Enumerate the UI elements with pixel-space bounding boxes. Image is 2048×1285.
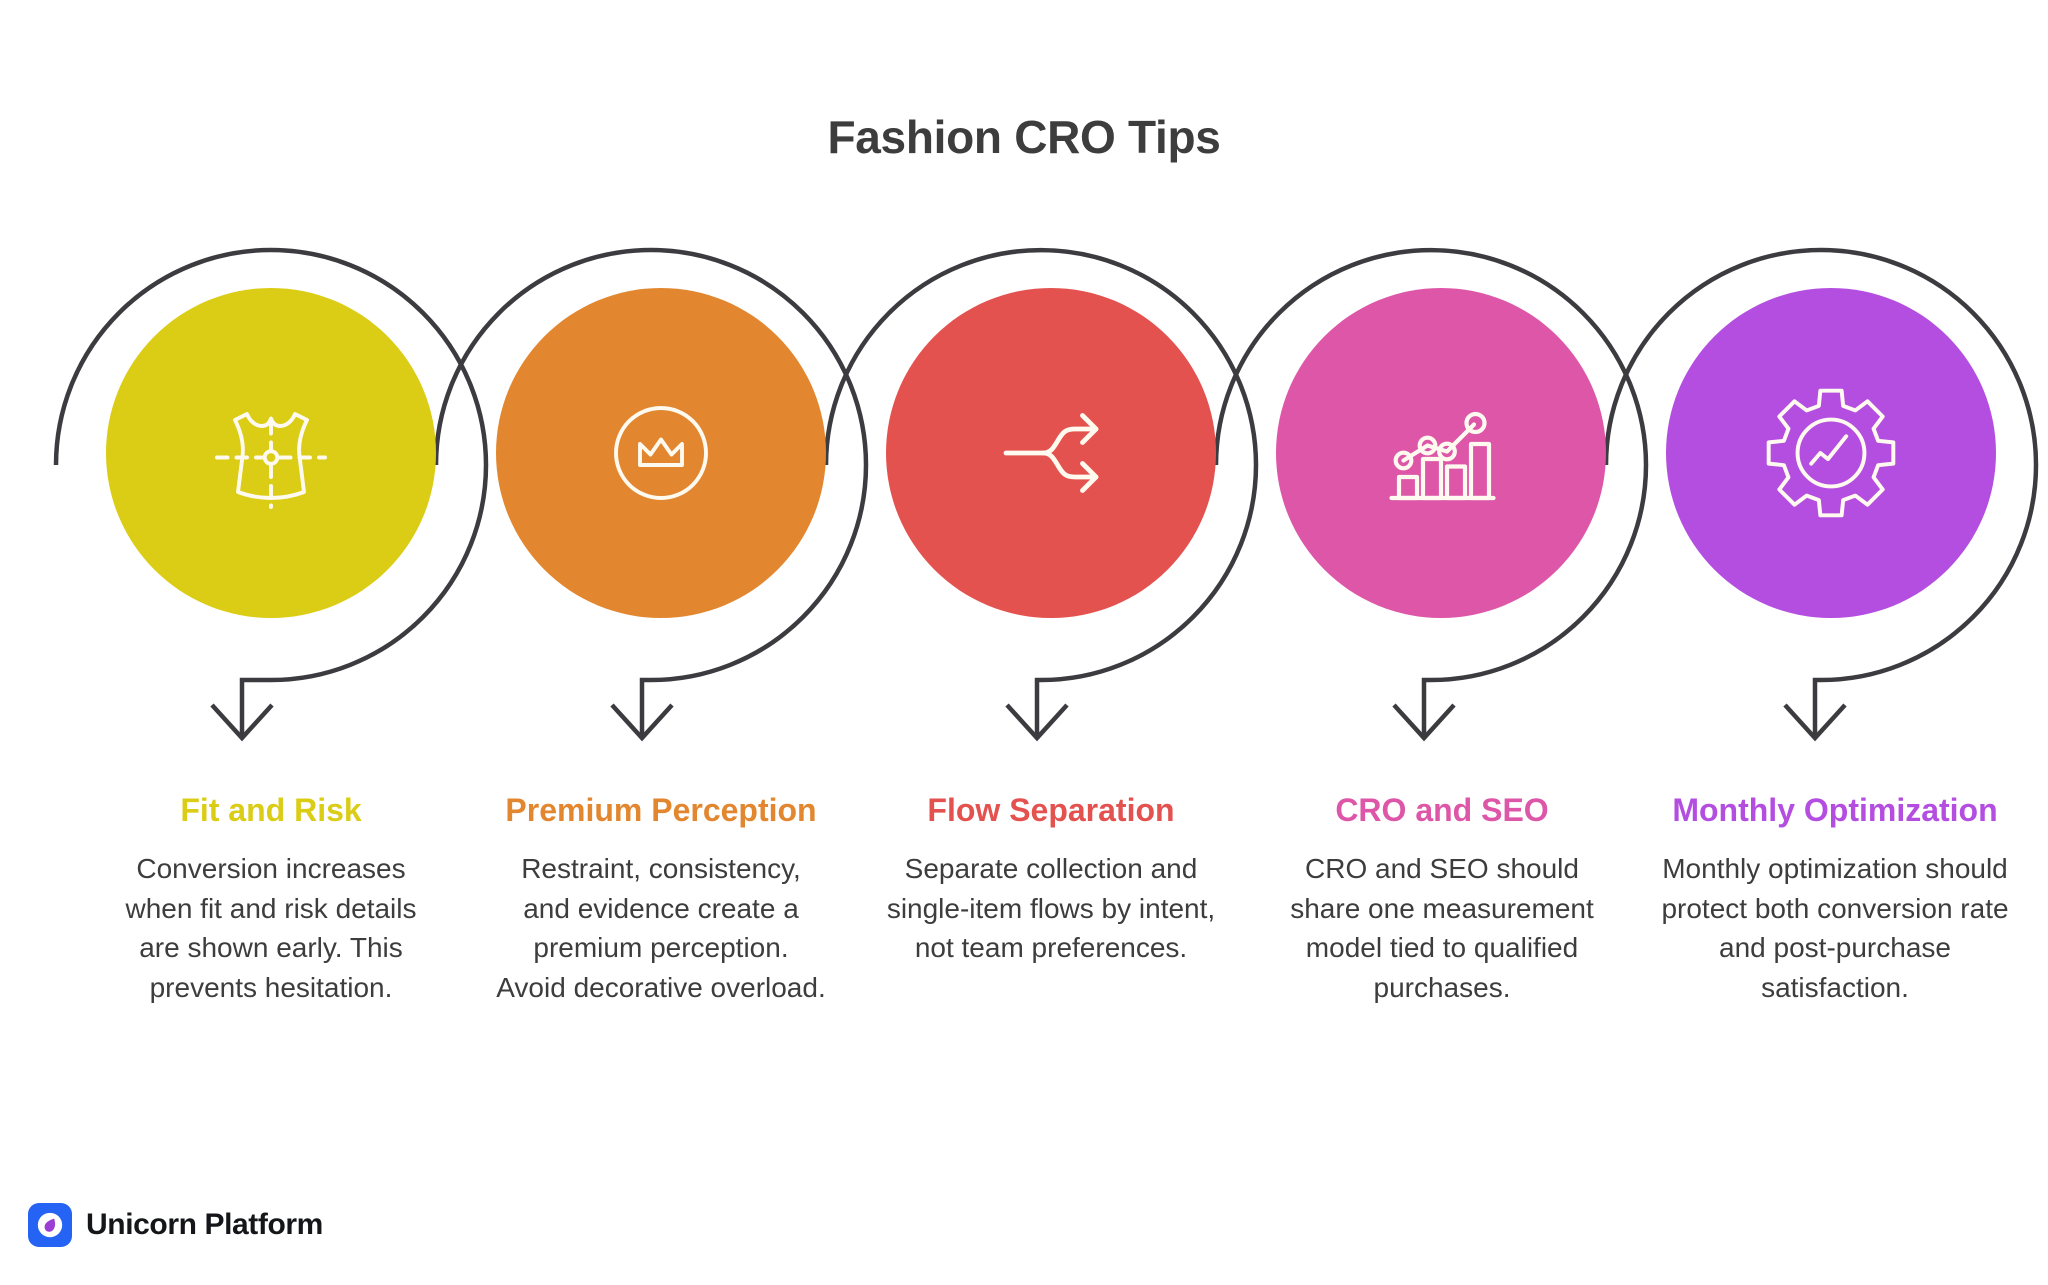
column-body: Separate collection and single-item flow… [886,849,1216,968]
column-heading: Monthly Optimization [1660,790,2010,831]
unicorn-platform-logo [28,1203,72,1247]
icon-circle-4[interactable] [1276,288,1606,618]
gear-trend-icon [1755,377,1907,529]
column-body: CRO and SEO should share one measurement… [1272,849,1612,1008]
circle-fill-5 [1666,288,1996,618]
circle-fill-4 [1276,288,1606,618]
page-title: Fashion CRO Tips [0,110,2048,164]
crown-badge-icon [586,378,736,528]
column-heading: Fit and Risk [106,790,436,831]
icon-circle-3[interactable] [886,288,1216,618]
circle-fill-1 [106,288,436,618]
column-heading: Flow Separation [886,790,1216,831]
icon-circle-1[interactable] [106,288,436,618]
split-arrows-icon [976,378,1126,528]
text-column-3: Flow Separation Separate collection and … [886,790,1216,968]
bar-line-chart-icon [1366,378,1516,528]
icon-circle-2[interactable] [496,288,826,618]
brand-name: Unicorn Platform [86,1208,323,1242]
connector-outlines [0,0,2048,1285]
text-column-4: CRO and SEO CRO and SEO should share one… [1272,790,1612,1008]
text-column-5: Monthly Optimization Monthly optimizatio… [1660,790,2010,1008]
column-body: Monthly optimization should protect both… [1660,849,2010,1008]
circle-fill-2 [496,288,826,618]
logo-drop-icon [35,1210,65,1240]
column-body: Conversion increases when fit and risk d… [106,849,436,1008]
icon-circle-5[interactable] [1666,288,1996,618]
circle-fill-3 [886,288,1216,618]
column-heading: Premium Perception [496,790,826,831]
dress-measurement-icon [196,378,346,528]
brand-footer[interactable]: Unicorn Platform [28,1203,323,1247]
column-heading: CRO and SEO [1272,790,1612,831]
text-column-2: Premium Perception Restraint, consistenc… [496,790,826,1008]
text-column-1: Fit and Risk Conversion increases when f… [106,790,436,1008]
icon-circles-row [0,288,2048,618]
column-body: Restraint, consistency, and evidence cre… [496,849,826,1008]
